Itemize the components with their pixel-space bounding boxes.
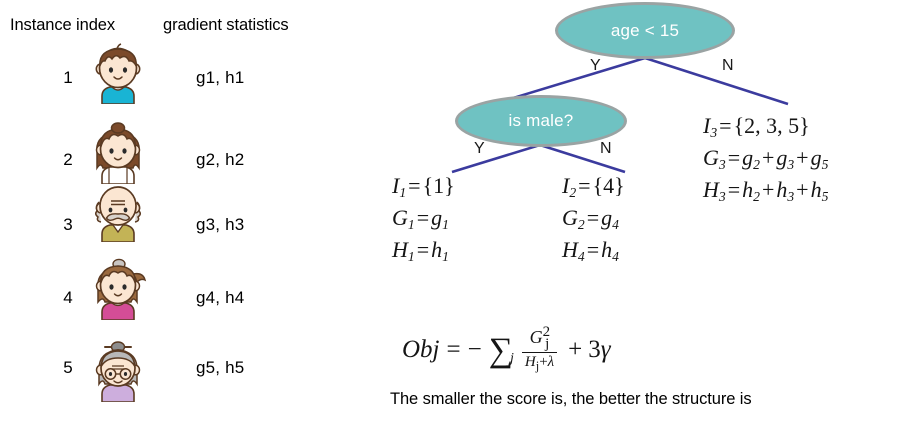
objective-formula: Obj = − ∑ j G2j Hj+λ + 3 γ — [402, 325, 611, 375]
leaf-2-formulas: I2={4} G2=g4 H4=h4 — [562, 170, 625, 267]
tree-node-root[interactable]: age < 15 — [555, 2, 735, 59]
leaf-2-gradient: G2=g4 — [562, 202, 625, 234]
row-index-4: 4 — [55, 288, 81, 308]
row-stats-3: g3, h3 — [196, 215, 244, 235]
leaf-1-formulas: I1={1} G1=g1 H1=h1 — [392, 170, 455, 267]
leaf-1-instances-value: {1} — [423, 173, 455, 198]
tree-node-root-label: age < 15 — [611, 21, 679, 41]
column-header-instance-index: Instance index — [10, 16, 115, 35]
edge-label-child-no: N — [600, 140, 612, 158]
leaf-2-instances: I2={4} — [562, 170, 625, 202]
leaf-3-hessian: H3=h2+h3+h5 — [703, 174, 828, 206]
row-index-3: 3 — [55, 215, 81, 235]
leaf-2-instances-value: {4} — [593, 173, 625, 198]
row-index-1: 1 — [55, 68, 81, 88]
leaf-3-formulas: I3={2, 3, 5} G3=g2+g3+g5 H3=h2+h3+h5 — [703, 110, 828, 207]
objective-gamma-coefficient: 3 — [588, 336, 601, 364]
objective-sum-index: j — [510, 351, 514, 367]
row-stats-2: g2, h2 — [196, 150, 244, 170]
objective-denominator: Hj+λ — [522, 352, 557, 374]
objective-equals: = — [440, 336, 468, 364]
old-man-avatar — [89, 180, 147, 242]
illustration-canvas: Instance index gradient statistics 1 g1,… — [0, 0, 920, 421]
leaf-1-hessian: H1=h1 — [392, 234, 455, 266]
old-woman-avatar — [89, 340, 147, 402]
column-header-gradient-statistics: gradient statistics — [163, 16, 289, 35]
row-stats-1: g1, h1 — [196, 68, 244, 88]
edge-label-child-yes: Y — [474, 140, 485, 158]
leaf-1-gradient: G1=g1 — [392, 202, 455, 234]
summary-caption: The smaller the score is, the better the… — [390, 390, 752, 409]
objective-lhs: Obj — [402, 336, 440, 364]
leaf-3-instances-value: {2, 3, 5} — [734, 113, 810, 138]
objective-minus: − — [468, 336, 482, 364]
row-index-5: 5 — [55, 358, 81, 378]
objective-numerator: G2j — [527, 324, 553, 352]
tree-node-is-male-label: is male? — [509, 111, 574, 131]
leaf-3-instances: I3={2, 3, 5} — [703, 110, 828, 142]
woman-avatar — [89, 258, 147, 320]
edge-label-root-yes: Y — [590, 57, 601, 75]
row-index-2: 2 — [55, 150, 81, 170]
leaf-3-gradient: G3=g2+g3+g5 — [703, 142, 828, 174]
boy-avatar — [89, 42, 147, 104]
row-stats-4: g4, h4 — [196, 288, 244, 308]
objective-plus: + — [562, 336, 588, 364]
objective-gamma: γ — [601, 336, 611, 364]
objective-fraction: G2j Hj+λ — [522, 324, 557, 374]
row-stats-5: g5, h5 — [196, 358, 244, 378]
leaf-1-instances: I1={1} — [392, 170, 455, 202]
edge-label-root-no: N — [722, 57, 734, 75]
girl-avatar — [89, 122, 147, 184]
leaf-2-hessian: H4=h4 — [562, 234, 625, 266]
